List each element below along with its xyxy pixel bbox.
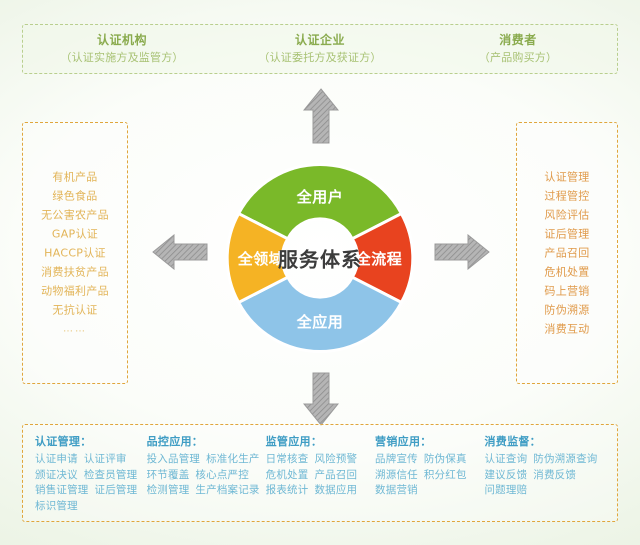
module-item: 防伪保真 (424, 453, 467, 465)
arrow-right-icon (434, 234, 490, 270)
stakeholder-subtitle: （认证实施方及监管方） (23, 49, 221, 66)
stakeholder-title: 认证企业 (221, 32, 419, 49)
module-item: 积分红包 (424, 469, 467, 481)
module-item: 数据营销 (375, 484, 418, 496)
module-item: 产品召回 (314, 469, 357, 481)
module-row: 溯源信任积分红包 (375, 468, 484, 484)
list-item: 认证管理 (517, 168, 617, 187)
list-item: 危机处置 (517, 263, 617, 282)
list-item: 码上营销 (517, 282, 617, 301)
module-row: 颁证决议检查员管理 (35, 468, 147, 484)
module-item: 品牌宣传 (375, 453, 418, 465)
donut-label-all-users: 全用户 (296, 188, 344, 206)
module-item: 消费反馈 (533, 469, 576, 481)
list-item: 消费互动 (517, 320, 617, 339)
certification-types-list: 有机产品 绿色食品 无公害农产品 GAP认证 HACCP认证 消费扶贫产品 动物… (23, 168, 127, 339)
module-row: 投入品管理标准化生产 (147, 452, 266, 468)
module-item: 标准化生产 (206, 453, 260, 465)
module-item: 环节覆盖 (147, 469, 190, 481)
donut-label-all-process: 全流程 (355, 250, 403, 268)
module-row: 数据营销 (375, 483, 484, 499)
module-row: 环节覆盖核心点严控 (147, 468, 266, 484)
module-item: 生产档案记录 (195, 484, 259, 496)
list-item-ellipsis: …… (23, 320, 127, 339)
module-row: 认证查询防伪溯源查询 (484, 452, 607, 468)
stakeholder-subtitle: （认证委托方及获证方） (221, 49, 419, 66)
module-row: 建议反馈消费反馈 (484, 468, 607, 484)
list-item: 动物福利产品 (23, 282, 127, 301)
list-item: 绿色食品 (23, 187, 127, 206)
module-row: 品牌宣传防伪保真 (375, 452, 484, 468)
list-item: 过程管控 (517, 187, 617, 206)
list-item: 有机产品 (23, 168, 127, 187)
module-title: 消费监督： (484, 434, 607, 449)
module-item: 检查员管理 (84, 469, 138, 481)
module-item: 颁证决议 (35, 469, 78, 481)
stakeholders-panel: 认证机构 （认证实施方及监管方） 认证企业 （认证委托方及获证方） 消费者 （产… (22, 24, 618, 74)
module-row: 检测管理生产档案记录 (147, 483, 266, 499)
module-item: 认证查询 (484, 453, 527, 465)
stakeholder-certification-body: 认证机构 （认证实施方及监管方） (23, 32, 221, 66)
module-certification-management: 认证管理： 认证申请认证评审 颁证决议检查员管理 销售证管理证后管理 标识管理 (35, 434, 147, 521)
stakeholder-certified-enterprise: 认证企业 （认证委托方及获证方） (221, 32, 419, 66)
module-item: 建议反馈 (484, 469, 527, 481)
arrow-left-icon (152, 234, 208, 270)
module-item: 证后管理 (95, 484, 138, 496)
stakeholder-title: 消费者 (419, 32, 617, 49)
module-item: 问题理赔 (484, 484, 527, 496)
service-system-donut: 全用户 全流程 全应用 全领域 服务体系 (202, 140, 438, 376)
module-row: 销售证管理证后管理 (35, 483, 147, 499)
list-item: 消费扶贫产品 (23, 263, 127, 282)
module-item: 认证评审 (84, 453, 127, 465)
list-item: HACCP认证 (23, 244, 127, 263)
list-item: GAP认证 (23, 225, 127, 244)
module-item: 投入品管理 (147, 453, 201, 465)
module-marketing: 营销应用： 品牌宣传防伪保真 溯源信任积分红包 数据营销 (375, 434, 484, 521)
module-item: 危机处置 (266, 469, 309, 481)
certification-types-panel: 有机产品 绿色食品 无公害农产品 GAP认证 HACCP认证 消费扶贫产品 动物… (22, 122, 128, 384)
list-item: 证后管理 (517, 225, 617, 244)
module-item: 风险预警 (314, 453, 357, 465)
module-item: 溯源信任 (375, 469, 418, 481)
service-capabilities-panel: 认证管理 过程管控 风险评估 证后管理 产品召回 危机处置 码上营销 防伪溯源 … (516, 122, 618, 384)
service-capabilities-list: 认证管理 过程管控 风险评估 证后管理 产品召回 危机处置 码上营销 防伪溯源 … (517, 168, 617, 339)
module-title: 品控应用： (147, 434, 266, 449)
module-quality-control: 品控应用： 投入品管理标准化生产 环节覆盖核心点严控 检测管理生产档案记录 (147, 434, 266, 521)
module-item: 核心点严控 (195, 469, 249, 481)
module-supervision: 监管应用： 日常核查风险预警 危机处置产品召回 报表统计数据应用 (266, 434, 375, 521)
module-row: 日常核查风险预警 (266, 452, 375, 468)
arrow-up-icon (303, 88, 339, 144)
module-row: 问题理赔 (484, 483, 607, 499)
module-item: 检测管理 (147, 484, 190, 496)
arrow-down-icon (303, 372, 339, 426)
donut-label-all-applications: 全应用 (296, 313, 344, 331)
module-title: 监管应用： (266, 434, 375, 449)
list-item: 无公害农产品 (23, 206, 127, 225)
module-title: 认证管理： (35, 434, 147, 449)
list-item: 产品召回 (517, 244, 617, 263)
stakeholder-subtitle: （产品购买方） (419, 49, 617, 66)
donut-label-all-domains: 全领域 (237, 250, 285, 268)
module-row: 标识管理 (35, 499, 147, 515)
module-title: 营销应用： (375, 434, 484, 449)
list-item: 风险评估 (517, 206, 617, 225)
module-item: 数据应用 (314, 484, 357, 496)
application-modules-panel: 认证管理： 认证申请认证评审 颁证决议检查员管理 销售证管理证后管理 标识管理 … (22, 424, 618, 522)
list-item: 防伪溯源 (517, 301, 617, 320)
module-consumer-supervision: 消费监督： 认证查询防伪溯源查询 建议反馈消费反馈 问题理赔 (484, 434, 607, 521)
module-item: 销售证管理 (35, 484, 89, 496)
module-item: 日常核查 (266, 453, 309, 465)
module-row: 危机处置产品召回 (266, 468, 375, 484)
module-item: 标识管理 (35, 500, 78, 512)
stakeholder-consumer: 消费者 （产品购买方） (419, 32, 617, 66)
module-row: 认证申请认证评审 (35, 452, 147, 468)
module-item: 防伪溯源查询 (533, 453, 597, 465)
list-item: 无抗认证 (23, 301, 127, 320)
diagram-canvas: 认证机构 （认证实施方及监管方） 认证企业 （认证委托方及获证方） 消费者 （产… (0, 0, 640, 545)
module-item: 认证申请 (35, 453, 78, 465)
module-row: 报表统计数据应用 (266, 483, 375, 499)
module-item: 报表统计 (266, 484, 309, 496)
stakeholder-title: 认证机构 (23, 32, 221, 49)
